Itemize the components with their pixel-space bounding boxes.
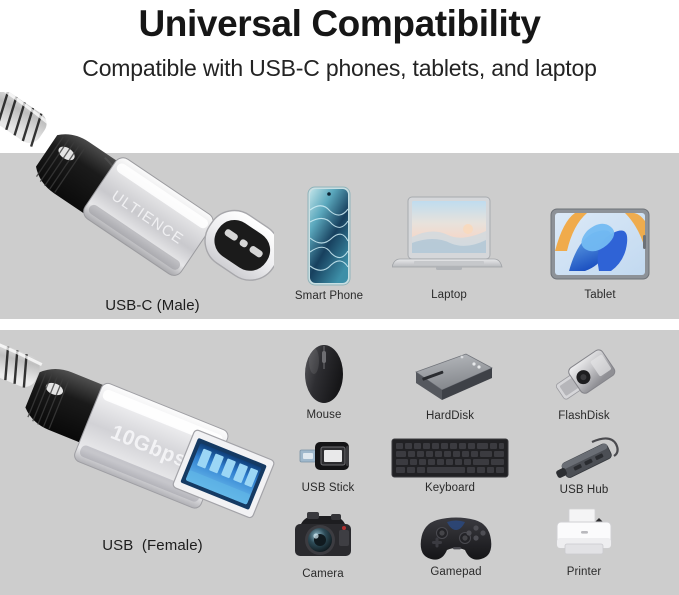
device-harddisk: HardDisk (404, 350, 496, 423)
device-camera: Camera (287, 510, 359, 581)
usb-a-female-caption: USB (Female) (35, 537, 270, 554)
device-label: Mouse (289, 408, 359, 422)
harddisk-icon (404, 350, 496, 406)
device-flashdisk: FlashDisk (548, 348, 620, 423)
device-laptop: Laptop (392, 193, 506, 302)
device-usb-hub: USB Hub (548, 432, 620, 497)
device-label: Keyboard (385, 481, 515, 495)
printer-icon (551, 508, 617, 562)
mouse-icon (289, 343, 359, 405)
device-mouse: Mouse (289, 343, 359, 422)
device-label: Printer (551, 565, 617, 579)
flashdisk-icon (548, 348, 620, 406)
device-label: USB Hub (548, 483, 620, 497)
page-subtitle: Compatible with USB-C phones, tablets, a… (0, 53, 679, 83)
device-usb-stick: USB Stick (295, 434, 361, 495)
keyboard-icon (385, 438, 515, 478)
device-label: HardDisk (404, 409, 496, 423)
laptop-icon (392, 193, 506, 285)
device-smart-phone: Smart Phone (283, 186, 375, 303)
product-infographic: Universal Compatibility Compatible with … (0, 0, 679, 595)
usb-hub-icon (548, 432, 620, 480)
gamepad-icon (417, 514, 495, 562)
page-title: Universal Compatibility (0, 2, 679, 46)
device-label: Smart Phone (283, 289, 375, 303)
camera-icon (287, 510, 359, 564)
device-tablet: Tablet (547, 205, 653, 302)
usb-c-male-caption: USB-C (Male) (40, 297, 265, 314)
device-printer: Printer (551, 508, 617, 579)
smartphone-icon (283, 186, 375, 286)
usb-a-female-connector: 10Gbps (0, 330, 277, 540)
usb-c-male-connector: ULTIENCE (0, 92, 274, 302)
usb-stick-icon (295, 434, 361, 478)
device-label: Camera (287, 567, 359, 581)
device-label: FlashDisk (548, 409, 620, 423)
device-label: USB Stick (295, 481, 361, 495)
tablet-icon (547, 205, 653, 285)
device-label: Gamepad (417, 565, 495, 579)
device-label: Tablet (547, 288, 653, 302)
device-keyboard: Keyboard (385, 438, 515, 495)
device-label: Laptop (392, 288, 506, 302)
device-gamepad: Gamepad (417, 514, 495, 579)
